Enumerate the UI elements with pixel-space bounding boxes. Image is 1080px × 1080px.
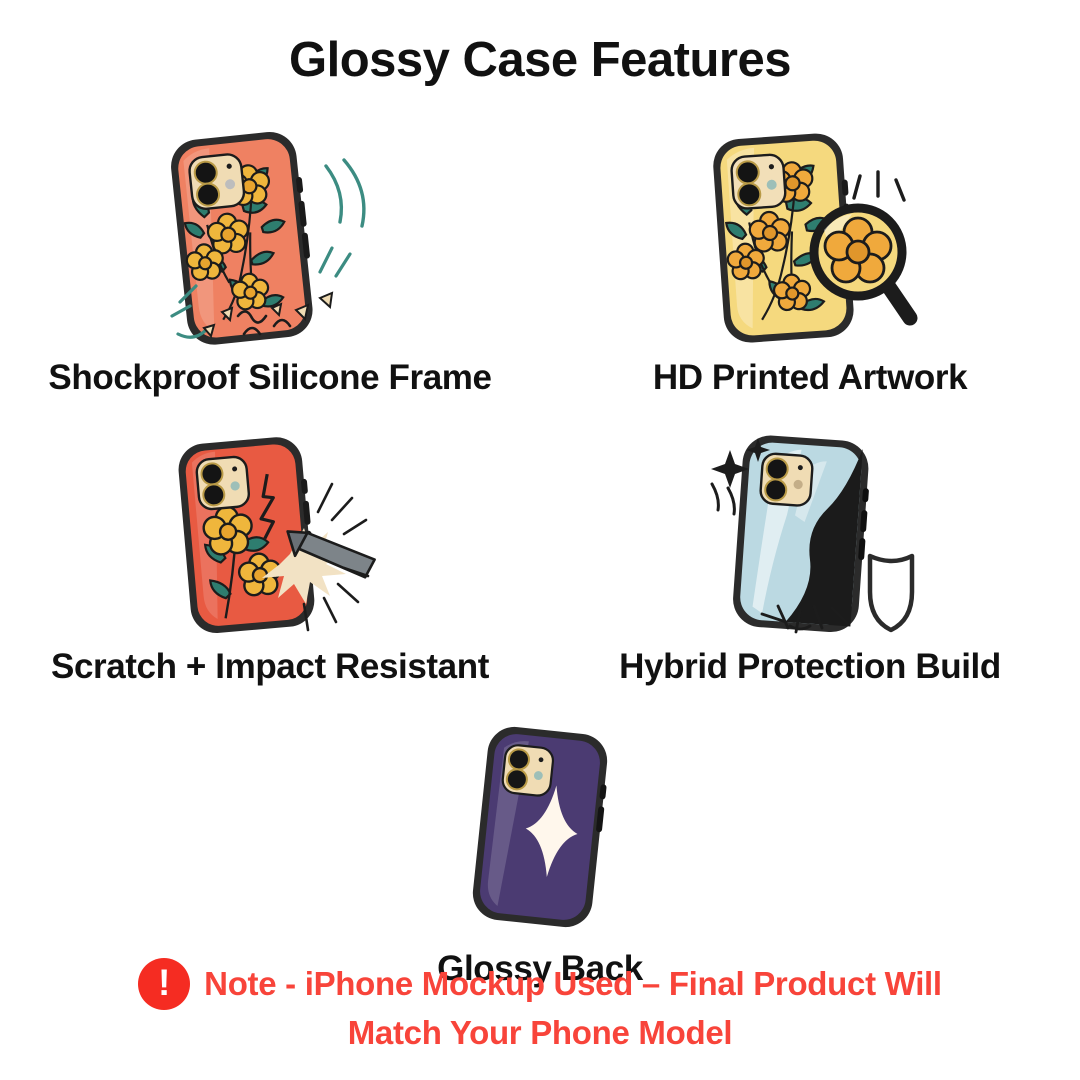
- orange-floral-case-with-impact-lines-icon: [120, 120, 420, 352]
- feature-label: HD Printed Artwork: [653, 358, 967, 398]
- exclamation-glyph: !: [158, 964, 170, 1001]
- feature-hd-printed-artwork: HD Printed Artwork: [540, 120, 1080, 398]
- feature-row-2: Scratch + Impact Resistant: [0, 426, 1080, 687]
- feature-scratch-impact-resistant: Scratch + Impact Resistant: [0, 426, 540, 687]
- feature-row-3: Glossy Back: [0, 711, 1080, 989]
- feature-shockproof-silicone-frame: Shockproof Silicone Frame: [0, 120, 540, 398]
- note-text-line-1: Note - iPhone Mockup Used – Final Produc…: [204, 965, 942, 1003]
- feature-label: Hybrid Protection Build: [619, 647, 1001, 687]
- note-text-line-2: Match Your Phone Model: [348, 1014, 733, 1052]
- feature-label: Scratch + Impact Resistant: [51, 647, 489, 687]
- mockup-disclaimer-note: ! Note - iPhone Mockup Used – Final Prod…: [0, 958, 1080, 1052]
- purple-glossy-case-with-sparkle-icon: [390, 711, 690, 943]
- feature-glossy-back: Glossy Back: [0, 711, 1080, 989]
- feature-label: Shockproof Silicone Frame: [48, 358, 491, 398]
- note-first-line: ! Note - iPhone Mockup Used – Final Prod…: [138, 958, 942, 1010]
- page-title: Glossy Case Features: [0, 32, 1080, 88]
- exclamation-icon: !: [138, 958, 190, 1010]
- product-feature-graphic: Glossy Case Features: [0, 0, 1080, 1080]
- feature-grid: Shockproof Silicone Frame: [0, 120, 1080, 989]
- red-case-with-blade-strike-icon: [120, 426, 420, 641]
- feature-hybrid-protection-build: Hybrid Protection Build: [540, 426, 1080, 687]
- feature-row-1: Shockproof Silicone Frame: [0, 120, 1080, 398]
- yellow-floral-case-with-magnifier-icon: [660, 120, 960, 352]
- blue-black-hybrid-case-with-shield-icon: [660, 426, 960, 641]
